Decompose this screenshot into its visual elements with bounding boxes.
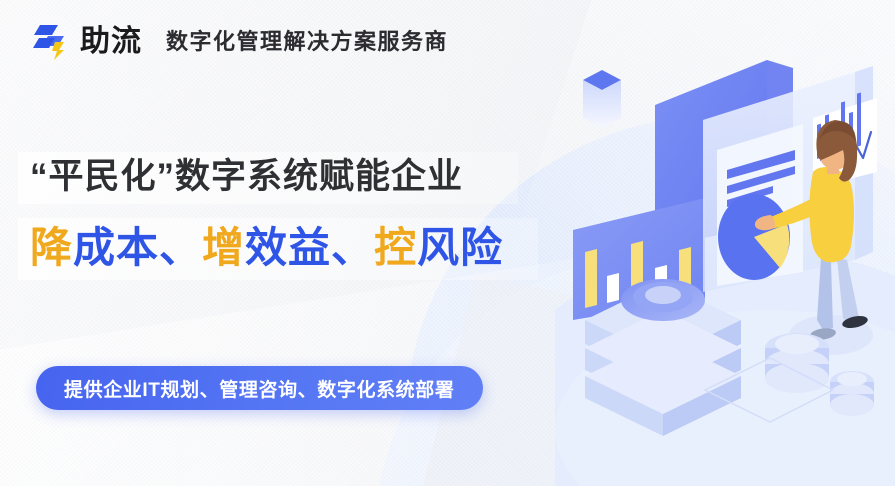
headline-segment-orange-2: 增 — [202, 224, 245, 271]
headline-segment-orange-1: 降 — [30, 224, 73, 271]
logo-wordmark: 助流 — [80, 27, 142, 57]
headline-segment-blue-3: 风险 — [417, 224, 503, 271]
headline-segment-orange-3: 控 — [374, 224, 417, 271]
headline-primary: “平民化”数字系统赋能企业 — [30, 155, 463, 200]
banner-stage: 助流 数字化管理解决方案服务商 “平民化”数字系统赋能企业 降成本、增效益、控风… — [0, 0, 895, 486]
lightning-bolt-logo-icon[interactable] — [28, 22, 72, 62]
cta-pill-button[interactable]: 提供企业IT规划、管理咨询、数字化系统部署 — [36, 366, 483, 410]
brand-header: 助流 数字化管理解决方案服务商 — [28, 22, 448, 62]
headline-segment-blue-2: 效益、 — [245, 224, 374, 271]
header-tagline: 数字化管理解决方案服务商 — [166, 31, 448, 53]
headline-segment-blue-1: 成本、 — [73, 224, 202, 271]
isometric-illustration — [555, 0, 895, 486]
pie-chart — [718, 194, 790, 280]
headline-secondary: 降成本、增效益、控风险 — [30, 220, 503, 275]
floating-cube-icon — [583, 70, 621, 128]
